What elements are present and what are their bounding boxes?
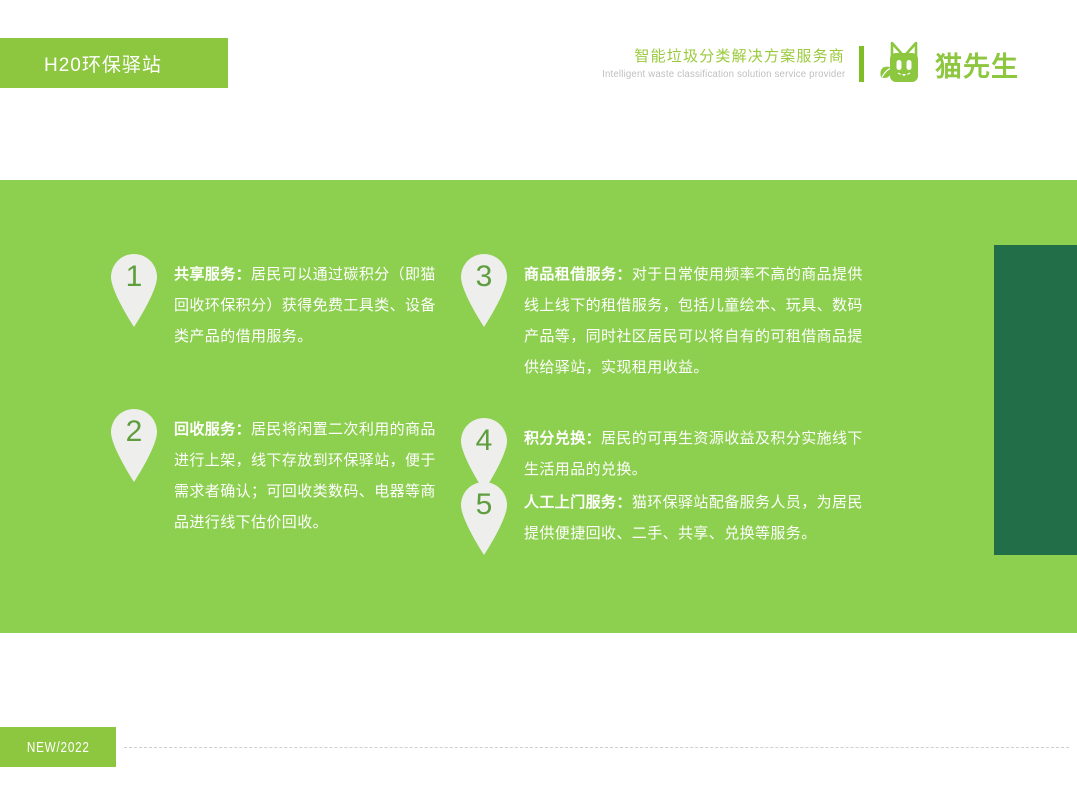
footer-badge: NEW/2022 bbox=[0, 727, 116, 767]
pin-number: 4 bbox=[458, 422, 510, 460]
page-title-block: H20环保驿站 bbox=[0, 38, 228, 88]
map-pin-icon: 2 bbox=[108, 405, 160, 483]
brand-tagline: 智能垃圾分类解决方案服务商 Intelligent waste classifi… bbox=[592, 47, 845, 82]
service-item-text: 回收服务：居民将闲置二次利用的商品进行上架，线下存放到环保驿站，便于需求者确认；… bbox=[174, 414, 442, 538]
pin-number: 2 bbox=[108, 413, 160, 451]
service-item-lead: 共享服务： bbox=[174, 266, 251, 283]
service-item-text: 积分兑换：居民的可再生资源收益及积分实施线下生活用品的兑换。 bbox=[524, 423, 877, 485]
service-item: 2 回收服务：居民将闲置二次利用的商品进行上架，线下存放到环保驿站，便于需求者确… bbox=[108, 405, 458, 538]
brand-tagline-cn: 智能垃圾分类解决方案服务商 bbox=[634, 47, 845, 67]
brand-logo: 猫先生 bbox=[878, 41, 1019, 87]
service-item: 5 人工上门服务：猫环保驿站配备服务人员，为居民提供便捷回收、二手、共享、兑换等… bbox=[458, 478, 898, 556]
accent-block bbox=[994, 245, 1077, 555]
pin-number: 5 bbox=[458, 486, 510, 524]
map-pin-icon: 1 bbox=[108, 250, 160, 328]
service-item-lead: 回收服务： bbox=[174, 421, 251, 438]
pin-number: 1 bbox=[108, 258, 160, 296]
footer-divider bbox=[124, 747, 1069, 748]
pin-number: 3 bbox=[458, 258, 510, 296]
footer-badge-label: NEW/2022 bbox=[27, 739, 90, 756]
map-pin-icon: 3 bbox=[458, 250, 510, 328]
service-item-lead: 积分兑换： bbox=[524, 430, 601, 447]
service-item: 3 商品租借服务：对于日常使用频率不高的商品提供线上线下的租借服务，包括儿童绘本… bbox=[458, 250, 898, 383]
service-item-text: 共享服务：居民可以通过碳积分（即猫回收环保积分）获得免费工具类、设备类产品的借用… bbox=[174, 259, 442, 352]
map-pin-icon: 5 bbox=[458, 478, 510, 556]
service-item-text: 商品租借服务：对于日常使用频率不高的商品提供线上线下的租借服务，包括儿童绘本、玩… bbox=[524, 259, 877, 383]
service-item-text: 人工上门服务：猫环保驿站配备服务人员，为居民提供便捷回收、二手、共享、兑换等服务… bbox=[524, 487, 877, 549]
service-item-lead: 人工上门服务： bbox=[524, 494, 632, 511]
page-title: H20环保驿站 bbox=[44, 50, 162, 77]
service-item: 1 共享服务：居民可以通过碳积分（即猫回收环保积分）获得免费工具类、设备类产品的… bbox=[108, 250, 458, 352]
cat-leaf-logo-icon bbox=[878, 41, 928, 87]
brand-divider bbox=[859, 46, 864, 82]
brand-name: 猫先生 bbox=[935, 45, 1019, 84]
brand-cluster: 智能垃圾分类解决方案服务商 Intelligent waste classifi… bbox=[592, 38, 1019, 90]
service-item-lead: 商品租借服务： bbox=[524, 266, 632, 283]
brand-tagline-en: Intelligent waste classification solutio… bbox=[602, 67, 845, 82]
